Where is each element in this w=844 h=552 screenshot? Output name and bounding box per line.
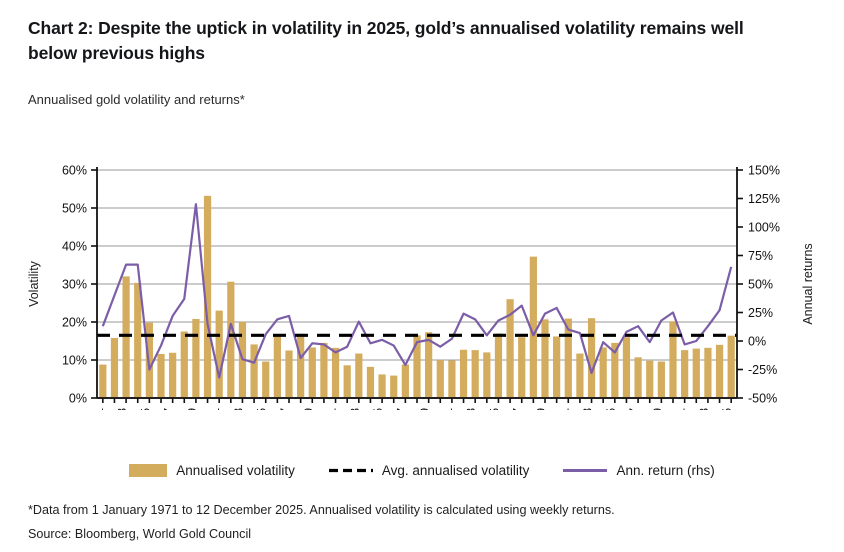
legend-label-volatility: Annualised volatility — [176, 463, 295, 478]
x-axis-tick: 1985 — [255, 408, 269, 410]
x-axis-tick: 1993 — [348, 408, 362, 410]
bar — [600, 347, 607, 398]
x-axis-tick: 2009 — [534, 408, 548, 410]
footnote-data: *Data from 1 January 1971 to 12 December… — [28, 503, 615, 517]
x-axis-tick: 1991 — [325, 408, 339, 410]
x-axis-tick: 1977 — [162, 408, 176, 410]
x-axis-tick: 1975 — [138, 408, 152, 410]
bar — [134, 283, 141, 398]
x-axis-tick: 1989 — [301, 408, 315, 410]
x-axis-tick: 1981 — [208, 408, 222, 410]
bar — [332, 348, 339, 398]
bar — [483, 352, 490, 398]
y-axis-tick: 60% — [62, 164, 87, 178]
y-axis-tick: 0% — [69, 392, 87, 406]
bar — [646, 361, 653, 398]
x-axis-tick: 2013 — [581, 408, 595, 410]
chart-subtitle: Annualised gold volatility and returns* — [28, 92, 245, 107]
legend-label-average: Avg. annualised volatility — [382, 463, 530, 478]
y2-axis-tick: 75% — [748, 249, 773, 263]
x-axis-tick: 1997 — [394, 408, 408, 410]
x-axis-tick: 2023 — [697, 408, 711, 410]
bar — [216, 311, 223, 398]
x-axis-tick: 2007 — [511, 408, 525, 410]
bar — [728, 336, 735, 398]
bar — [402, 365, 409, 398]
bar — [658, 362, 665, 398]
bar — [297, 334, 304, 398]
x-axis-tick: 1983 — [232, 408, 246, 410]
bar — [274, 335, 281, 398]
x-axis-tick: 2025 — [720, 408, 734, 410]
bar — [390, 376, 397, 398]
y2-axis-tick: 50% — [748, 278, 773, 292]
bar-swatch-icon — [129, 464, 167, 477]
y2-axis-tick: 25% — [748, 306, 773, 320]
bar — [588, 318, 595, 398]
bar — [320, 343, 327, 398]
x-axis-tick: 1995 — [371, 408, 385, 410]
bar — [250, 344, 257, 398]
bar — [262, 362, 269, 398]
bar — [472, 350, 479, 398]
y2-axis-tick: 0% — [748, 335, 766, 349]
x-axis-tick: 1971 — [92, 408, 106, 410]
bar — [122, 276, 129, 398]
y2-axis-tick: 125% — [748, 192, 780, 206]
solid-line-swatch-icon — [563, 464, 607, 477]
bar — [437, 360, 444, 398]
x-axis-tick: 2021 — [674, 408, 688, 410]
bar — [716, 345, 723, 398]
y-axis-tick: 30% — [62, 278, 87, 292]
y2-axis-tick: 100% — [748, 221, 780, 235]
bar — [634, 357, 641, 398]
bar — [378, 374, 385, 398]
y-axis-tick: 10% — [62, 354, 87, 368]
x-axis-tick: 2011 — [557, 408, 571, 410]
bar — [541, 319, 548, 398]
bar — [367, 367, 374, 398]
bar — [623, 337, 630, 398]
chart-plot-area: 0%10%20%30%40%50%60%-50%-25%0%25%50%75%1… — [0, 150, 844, 410]
bar — [518, 337, 525, 398]
x-axis-tick: 2015 — [604, 408, 618, 410]
bar — [448, 360, 455, 398]
bar — [157, 354, 164, 398]
bar — [309, 347, 316, 398]
legend-item-return: Ann. return (rhs) — [563, 463, 714, 478]
bar — [704, 348, 711, 398]
bar — [460, 350, 467, 398]
x-axis-tick: 2019 — [650, 408, 664, 410]
y2-axis-tick: 150% — [748, 164, 780, 178]
dashed-line-swatch-icon — [329, 464, 373, 477]
y2-axis-tick: -25% — [748, 363, 777, 377]
legend-label-return: Ann. return (rhs) — [616, 463, 714, 478]
bar — [669, 321, 676, 398]
bar — [111, 338, 118, 398]
bar — [576, 354, 583, 398]
x-axis-tick: 2017 — [627, 408, 641, 410]
footnote-source: Source: Bloomberg, World Gold Council — [28, 527, 251, 541]
x-axis-tick: 1999 — [418, 408, 432, 410]
chart-page: Chart 2: Despite the uptick in volatilit… — [0, 0, 844, 552]
x-axis-tick: 1987 — [278, 408, 292, 410]
x-axis-tick: 1973 — [115, 408, 129, 410]
y2-axis-title: Annual returns — [801, 243, 815, 324]
bar — [99, 365, 106, 398]
chart-legend: Annualised volatility Avg. annualised vo… — [0, 455, 844, 485]
bar — [181, 332, 188, 399]
y-axis-tick: 20% — [62, 316, 87, 330]
x-axis-tick: 2003 — [464, 408, 478, 410]
bar — [693, 349, 700, 398]
bar — [285, 351, 292, 399]
y-axis-title: Volatility — [27, 260, 41, 307]
bar — [681, 350, 688, 398]
page-title: Chart 2: Despite the uptick in volatilit… — [28, 16, 788, 66]
y-axis-tick: 50% — [62, 202, 87, 216]
bar — [553, 336, 560, 398]
x-axis-tick: 1979 — [185, 408, 199, 410]
chart-svg: 0%10%20%30%40%50%60%-50%-25%0%25%50%75%1… — [0, 150, 844, 410]
y2-axis-tick: -50% — [748, 392, 777, 406]
x-axis-tick: 2001 — [441, 408, 455, 410]
bar — [495, 333, 502, 398]
legend-item-volatility: Annualised volatility — [129, 463, 295, 478]
bar — [344, 365, 351, 398]
y-axis-tick: 40% — [62, 240, 87, 254]
legend-item-average: Avg. annualised volatility — [329, 463, 530, 478]
x-axis-tick: 2005 — [488, 408, 502, 410]
bar — [192, 319, 199, 398]
bar — [169, 353, 176, 398]
bar — [355, 354, 362, 398]
